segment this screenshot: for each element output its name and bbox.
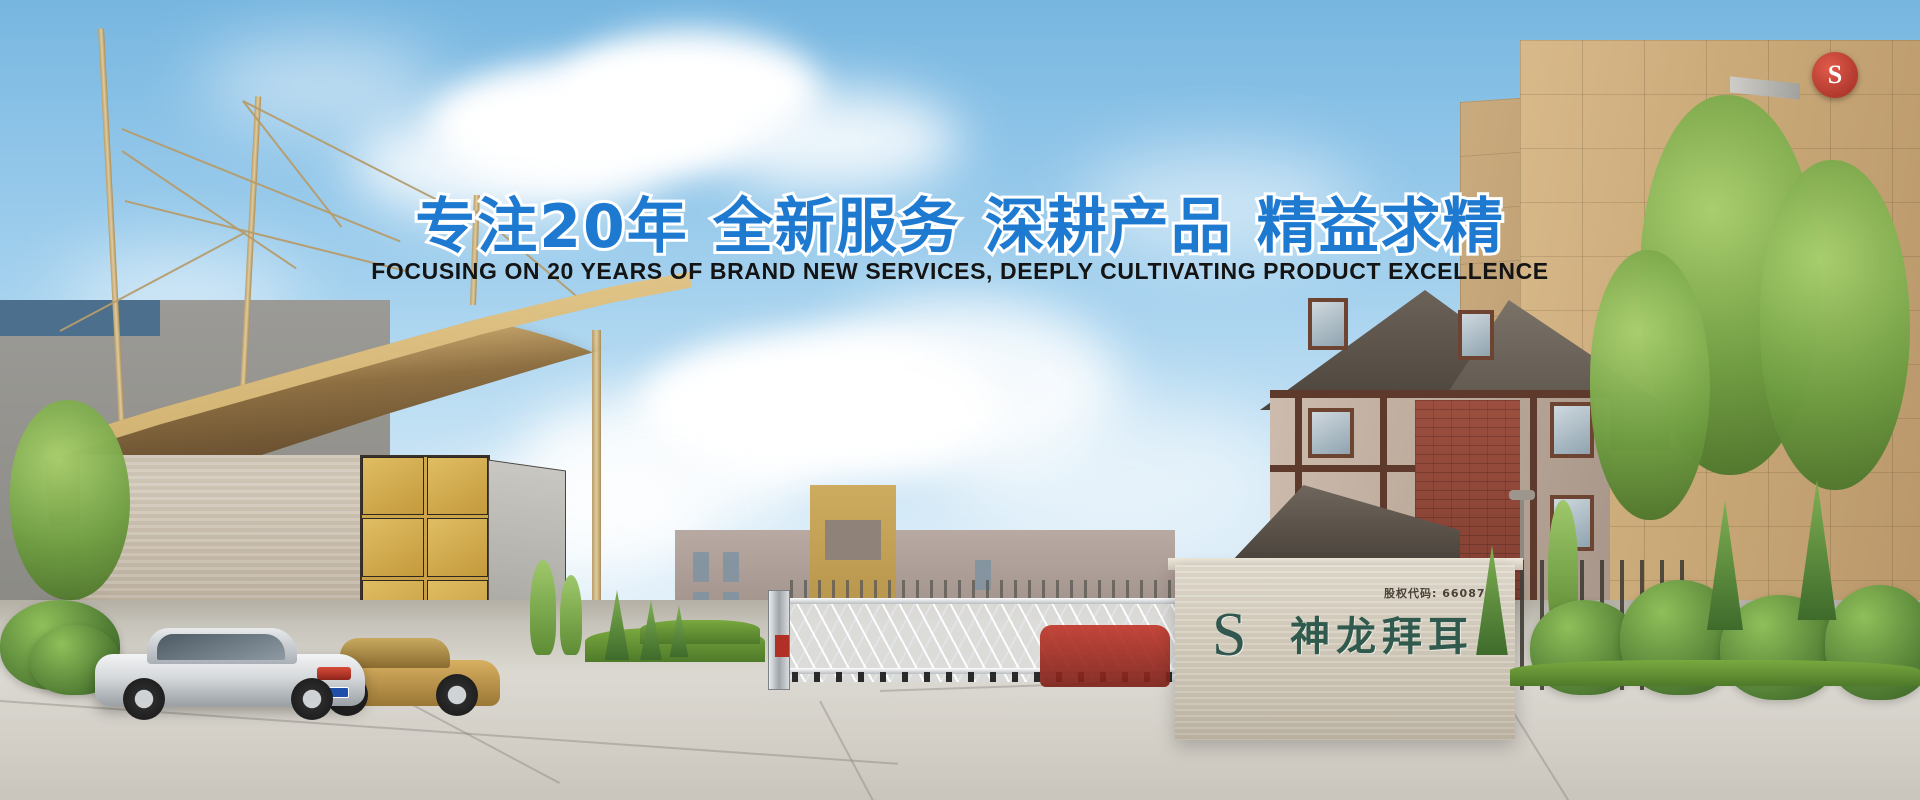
villa-window bbox=[1550, 402, 1594, 458]
cloud bbox=[200, 40, 440, 130]
villa-window bbox=[1308, 408, 1354, 458]
cloud bbox=[950, 400, 1290, 540]
headline-part-2: 全新服务 bbox=[713, 178, 961, 265]
car-wheel bbox=[123, 678, 165, 720]
factory-entry-recess bbox=[825, 520, 881, 560]
villa-timber-beam bbox=[1270, 390, 1610, 398]
gate-top-rail bbox=[770, 598, 1180, 604]
banner-subtitle: FOCUSING ON 20 YEARS OF BRAND NEW SERVIC… bbox=[0, 258, 1920, 285]
company-logo-icon: S bbox=[1812, 52, 1858, 98]
villa-window bbox=[1308, 298, 1348, 350]
panel bbox=[427, 457, 489, 515]
panel bbox=[427, 518, 489, 576]
gate-control-box bbox=[775, 635, 789, 657]
cloud bbox=[700, 90, 960, 190]
car-wheel bbox=[436, 674, 478, 716]
dragon-logo-icon: S bbox=[1212, 600, 1276, 672]
banner-headline: 专注20年全新服务深耕产品精益求精 bbox=[0, 178, 1920, 265]
grass-strip bbox=[1510, 660, 1920, 686]
panel bbox=[362, 518, 424, 576]
poplar-tree bbox=[560, 575, 582, 655]
company-name-label: 神龙拜耳 bbox=[1290, 604, 1474, 662]
villa-timber-beam bbox=[1270, 465, 1415, 472]
tree bbox=[10, 400, 130, 600]
silver-car bbox=[95, 630, 365, 720]
headline-part-1: 专注20年 bbox=[415, 178, 689, 265]
tree bbox=[1590, 250, 1710, 520]
car-taillight bbox=[317, 667, 351, 680]
factory-window bbox=[693, 552, 709, 582]
villa-window bbox=[1458, 310, 1494, 360]
poplar-tree bbox=[530, 560, 556, 655]
car-wheel bbox=[291, 678, 333, 720]
panel bbox=[362, 457, 424, 515]
factory-window bbox=[723, 552, 739, 582]
red-vehicle bbox=[1040, 625, 1170, 687]
headline-part-3: 深耕产品 bbox=[985, 178, 1233, 265]
stock-code-label: 股权代码: 660873 bbox=[1384, 585, 1494, 601]
lamp-head bbox=[1509, 490, 1535, 500]
banner-image: S S 股权代码: 6 bbox=[0, 0, 1920, 800]
car-window bbox=[157, 634, 285, 660]
headline-part-4: 精益求精 bbox=[1257, 178, 1505, 265]
